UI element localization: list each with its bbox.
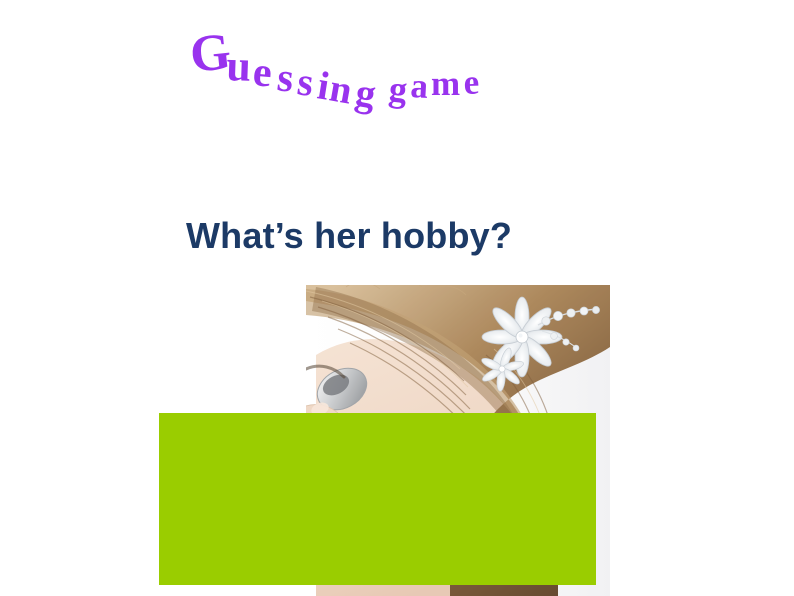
wordart-letter-u: u (226, 41, 252, 91)
wordart-letters: G u e s s i n g g a m e (187, 23, 480, 116)
wordart-letter-e: e (251, 49, 274, 96)
wordart-letter-m: m (431, 64, 460, 103)
green-cover-rectangle[interactable] (159, 413, 596, 585)
wordart-letter-s1: s (275, 53, 296, 101)
question-text: What’s her hobby? (186, 217, 512, 255)
wordart-letter-s2: s (295, 58, 317, 105)
slide-canvas: G u e s s i n g g a m e What’s her hobby… (0, 0, 794, 596)
wordart-letter-e2: e (463, 62, 480, 102)
wordart-letter-g2: g (352, 71, 379, 117)
wordart-letter-i: i (315, 62, 333, 108)
wordart-letter-g3: g (387, 68, 409, 110)
title-wordart: G u e s s i n g g a m e (192, 28, 512, 123)
wordart-letter-n: n (326, 67, 355, 113)
wordart-letter-a: a (410, 66, 430, 106)
wordart-letter-G: G (187, 23, 233, 84)
